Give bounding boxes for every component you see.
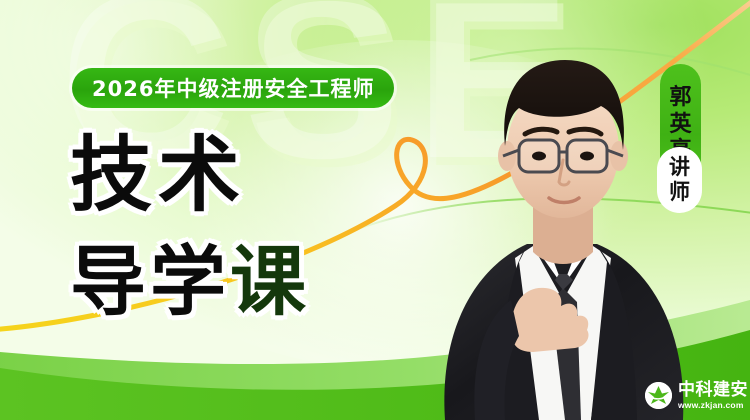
star-arrow-circle-icon bbox=[645, 382, 672, 409]
instructor-photo bbox=[415, 0, 705, 420]
brand-text: 中科建安 www.zkjan.com bbox=[678, 382, 748, 410]
headline-line-2-part-b: 课 bbox=[230, 237, 310, 326]
instructor-name-char-2: 英 bbox=[669, 112, 691, 139]
course-subtitle-badge: 2026年中级注册安全工程师 bbox=[72, 68, 394, 108]
course-poster: CSE CSE bbox=[0, 0, 750, 420]
course-subtitle-label: 2026年中级注册安全工程师 bbox=[92, 73, 374, 103]
headline-line-2-part-a: 导学 bbox=[70, 237, 230, 326]
instructor-name-char-1: 郭 bbox=[669, 85, 691, 112]
brand-name: 中科建安 bbox=[678, 382, 748, 399]
brand-url: www.zkjan.com bbox=[678, 401, 748, 410]
instructor-role-badge: 讲 师 bbox=[657, 147, 702, 213]
brand-logo: 中科建安 www.zkjan.com bbox=[645, 382, 748, 410]
headline-line-1: 技术 bbox=[70, 135, 246, 217]
headline-line-2: 导学课 bbox=[70, 244, 310, 320]
instructor-role-char-1: 讲 bbox=[669, 155, 690, 180]
instructor-role-char-2: 师 bbox=[669, 180, 690, 205]
